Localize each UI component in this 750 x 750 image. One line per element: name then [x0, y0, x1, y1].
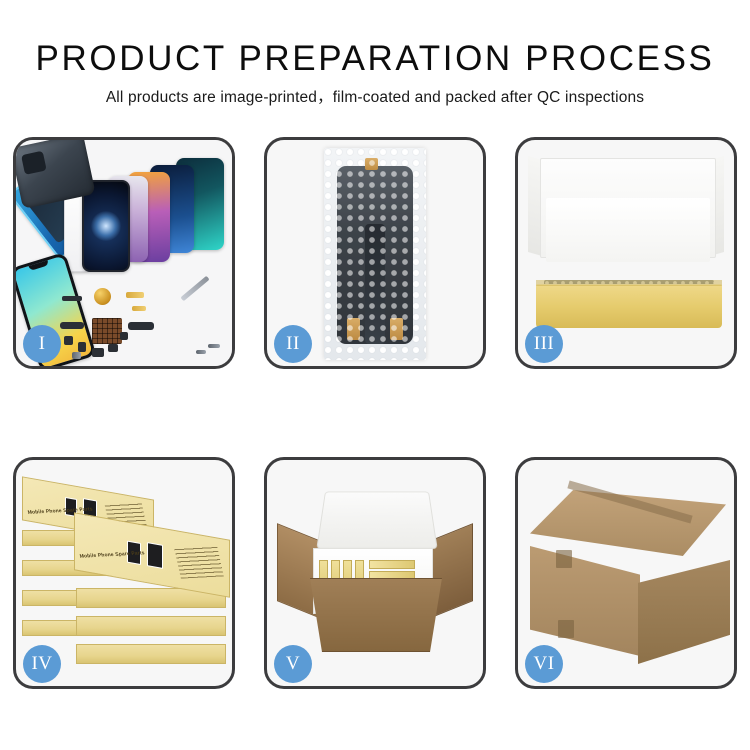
speaker-part	[62, 296, 82, 301]
step-panel-2: II	[264, 137, 486, 369]
carton-front-face	[530, 546, 640, 656]
step-panel-5: V	[264, 457, 486, 689]
screw-board-part	[92, 318, 122, 344]
connector-gold-part-2	[132, 306, 146, 311]
flex-cable-part-2	[128, 322, 154, 330]
step-panel-4: Mobile Phone Spare Parts Mobile Phone Sp…	[13, 457, 235, 689]
step-panel-3: III	[515, 137, 737, 369]
print-text-lines	[174, 546, 224, 579]
screw-part-2	[196, 350, 206, 354]
stacked-box	[76, 644, 226, 664]
connector-gold-part	[126, 292, 144, 298]
stacked-box	[76, 616, 226, 636]
yellow-box-flat	[369, 560, 415, 569]
step-badge-2: II	[274, 325, 312, 363]
infographic-page: PRODUCT PREPARATION PROCESS All products…	[0, 0, 750, 750]
carton-body-graphic	[301, 578, 451, 652]
yellow-box-tray-graphic	[536, 284, 722, 328]
step-badge-3: III	[525, 325, 563, 363]
step-badge-6: VI	[525, 645, 563, 683]
small-part-3	[92, 348, 104, 357]
page-subtitle: All products are image-printed，film-coat…	[0, 88, 750, 108]
small-part-1	[64, 336, 73, 345]
bubble-bag-graphic	[324, 148, 426, 360]
page-title: PRODUCT PREPARATION PROCESS	[0, 38, 750, 80]
step-panel-6: VI	[515, 457, 737, 689]
foam-sheet-graphic	[546, 198, 710, 262]
bubble-texture	[324, 148, 426, 360]
header: PRODUCT PREPARATION PROCESS All products…	[0, 38, 750, 108]
carton-tape-lower	[558, 620, 574, 638]
carton-tape-upper	[556, 550, 572, 568]
camera-ring-part	[94, 288, 111, 305]
small-part-6	[120, 332, 128, 340]
screw-part	[208, 344, 220, 348]
small-part-4	[108, 344, 118, 352]
phone-print-chip	[147, 542, 163, 569]
step-panel-1: I	[13, 137, 235, 369]
step-badge-1: I	[23, 325, 61, 363]
foam-lid-graphic	[316, 492, 437, 549]
small-part-2	[78, 342, 86, 352]
step-badge-4: IV	[23, 645, 61, 683]
small-part-5	[72, 352, 81, 359]
process-grid: I II	[13, 137, 737, 689]
flex-cable-part	[60, 322, 84, 329]
printed-box-top-b: Mobile Phone Spare Parts	[74, 512, 230, 598]
step-badge-5: V	[274, 645, 312, 683]
carton-side-face	[638, 560, 730, 664]
